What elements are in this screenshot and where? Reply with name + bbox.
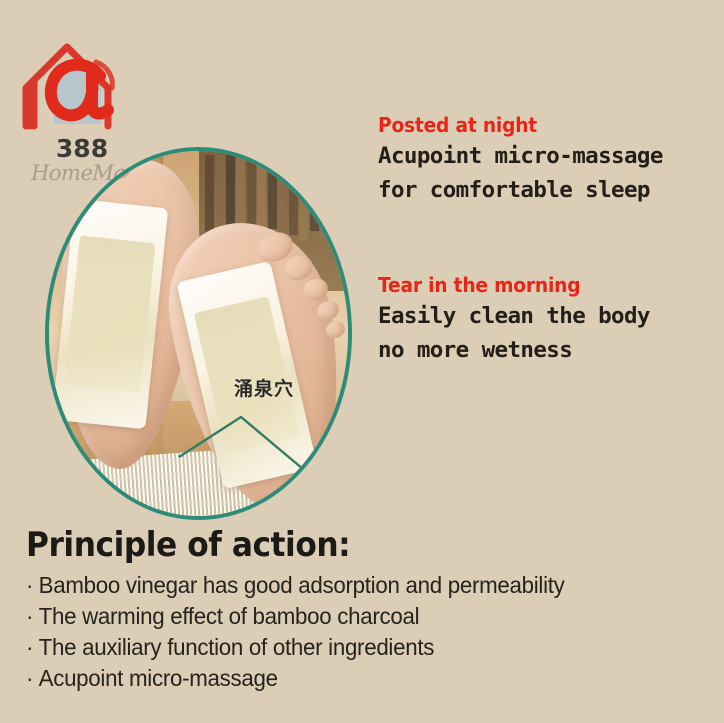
morning-kicker: Tear in the morning bbox=[378, 272, 631, 298]
bullet-icon: · bbox=[26, 601, 39, 632]
list-item-label: Acupoint micro-massage bbox=[39, 665, 278, 691]
night-line-2: for comfortable sleep bbox=[378, 174, 663, 206]
list-item-label: Bamboo vinegar has good adsorption and p… bbox=[39, 572, 565, 598]
bullet-icon: · bbox=[26, 570, 39, 601]
acupoint-pointer-icon bbox=[177, 413, 322, 473]
list-item: ·Acupoint micro-massage bbox=[26, 663, 695, 694]
feet-with-foot-patches-photo: 涌泉穴 bbox=[45, 147, 352, 520]
house-outline-with-letter-a-icon bbox=[12, 28, 152, 138]
benefit-block-morning: Tear in the morning Easily clean the bod… bbox=[378, 272, 650, 366]
principle-of-action-section: Principle of action: ·Bamboo vinegar has… bbox=[26, 524, 716, 694]
list-item: ·The auxiliary function of other ingredi… bbox=[26, 632, 695, 663]
bullet-icon: · bbox=[26, 632, 39, 663]
principle-title: Principle of action: bbox=[26, 524, 661, 566]
benefit-block-night: Posted at night Acupoint micro-massage f… bbox=[378, 112, 663, 206]
night-kicker: Posted at night bbox=[378, 112, 643, 138]
list-item-label: The auxiliary function of other ingredie… bbox=[39, 634, 435, 660]
list-item-label: The warming effect of bamboo charcoal bbox=[39, 603, 420, 629]
list-item: ·The warming effect of bamboo charcoal bbox=[26, 601, 695, 632]
morning-line-2: no more wetness bbox=[378, 334, 650, 366]
acupoint-label: 涌泉穴 bbox=[234, 374, 294, 401]
list-item: ·Bamboo vinegar has good adsorption and … bbox=[26, 570, 695, 601]
night-line-1: Acupoint micro-massage bbox=[378, 140, 663, 172]
principle-list: ·Bamboo vinegar has good adsorption and … bbox=[26, 570, 716, 694]
morning-line-1: Easily clean the body bbox=[378, 300, 650, 332]
product-poster: 388 HomeMart bbox=[0, 0, 724, 723]
foot-patch-pad bbox=[65, 235, 156, 393]
bullet-icon: · bbox=[26, 663, 39, 694]
